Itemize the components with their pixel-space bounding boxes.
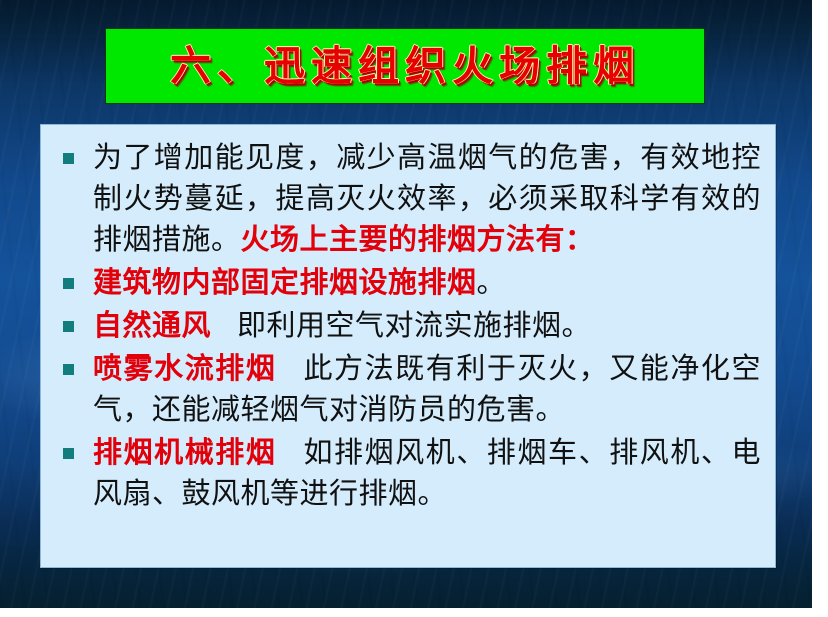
title-banner: 六、迅速组织火场排烟: [105, 28, 705, 104]
list-item: 喷雾水流排烟此方法既有利于灭火，又能净化空气，还能减轻烟气对消防员的危害。: [55, 348, 761, 430]
list-item-text: 自然通风即利用空气对流实施排烟。: [93, 305, 761, 346]
square-bullet-icon: [63, 364, 74, 375]
list-item: 建筑物内部固定排烟设施排烟。: [55, 262, 761, 303]
page-title: 六、迅速组织火场排烟: [170, 46, 640, 87]
list-item: 自然通风即利用空气对流实施排烟。: [55, 305, 761, 346]
list-item-text: 喷雾水流排烟此方法既有利于灭火，又能净化空气，还能减轻烟气对消防员的危害。: [93, 348, 761, 430]
bullet-list: 为了增加能见度，减少高温烟气的危害，有效地控制火势蔓延，提高灭火效率，必须采取科…: [55, 137, 761, 514]
square-bullet-icon: [63, 153, 74, 164]
slide-canvas: 六、迅速组织火场排烟 为了增加能见度，减少高温烟气的危害，有效地控制火势蔓延，提…: [0, 0, 812, 608]
body-text: 即利用空气对流实施排烟。: [237, 308, 591, 342]
list-item: 为了增加能见度，减少高温烟气的危害，有效地控制火势蔓延，提高灭火效率，必须采取科…: [55, 137, 761, 260]
emphasis-text: 自然通风: [93, 308, 211, 342]
square-bullet-icon: [63, 321, 74, 332]
emphasis-text: 喷雾水流排烟: [93, 351, 276, 385]
emphasis-text: 排烟机械排烟: [93, 435, 276, 469]
list-item-text: 为了增加能见度，减少高温烟气的危害，有效地控制火势蔓延，提高灭火效率，必须采取科…: [93, 137, 761, 260]
list-item-text: 排烟机械排烟如排烟风机、排烟车、排风机、电风扇、鼓风机等进行排烟。: [93, 432, 761, 514]
emphasis-text: 火场上主要的排烟方法有：: [241, 222, 595, 256]
square-bullet-icon: [63, 278, 74, 289]
body-text: 。: [477, 265, 507, 299]
emphasis-text: 建筑物内部固定排烟设施排烟: [93, 265, 477, 299]
content-panel: 为了增加能见度，减少高温烟气的危害，有效地控制火势蔓延，提高灭火效率，必须采取科…: [40, 124, 776, 568]
list-item: 排烟机械排烟如排烟风机、排烟车、排风机、电风扇、鼓风机等进行排烟。: [55, 432, 761, 514]
square-bullet-icon: [63, 448, 74, 459]
list-item-text: 建筑物内部固定排烟设施排烟。: [93, 262, 761, 303]
